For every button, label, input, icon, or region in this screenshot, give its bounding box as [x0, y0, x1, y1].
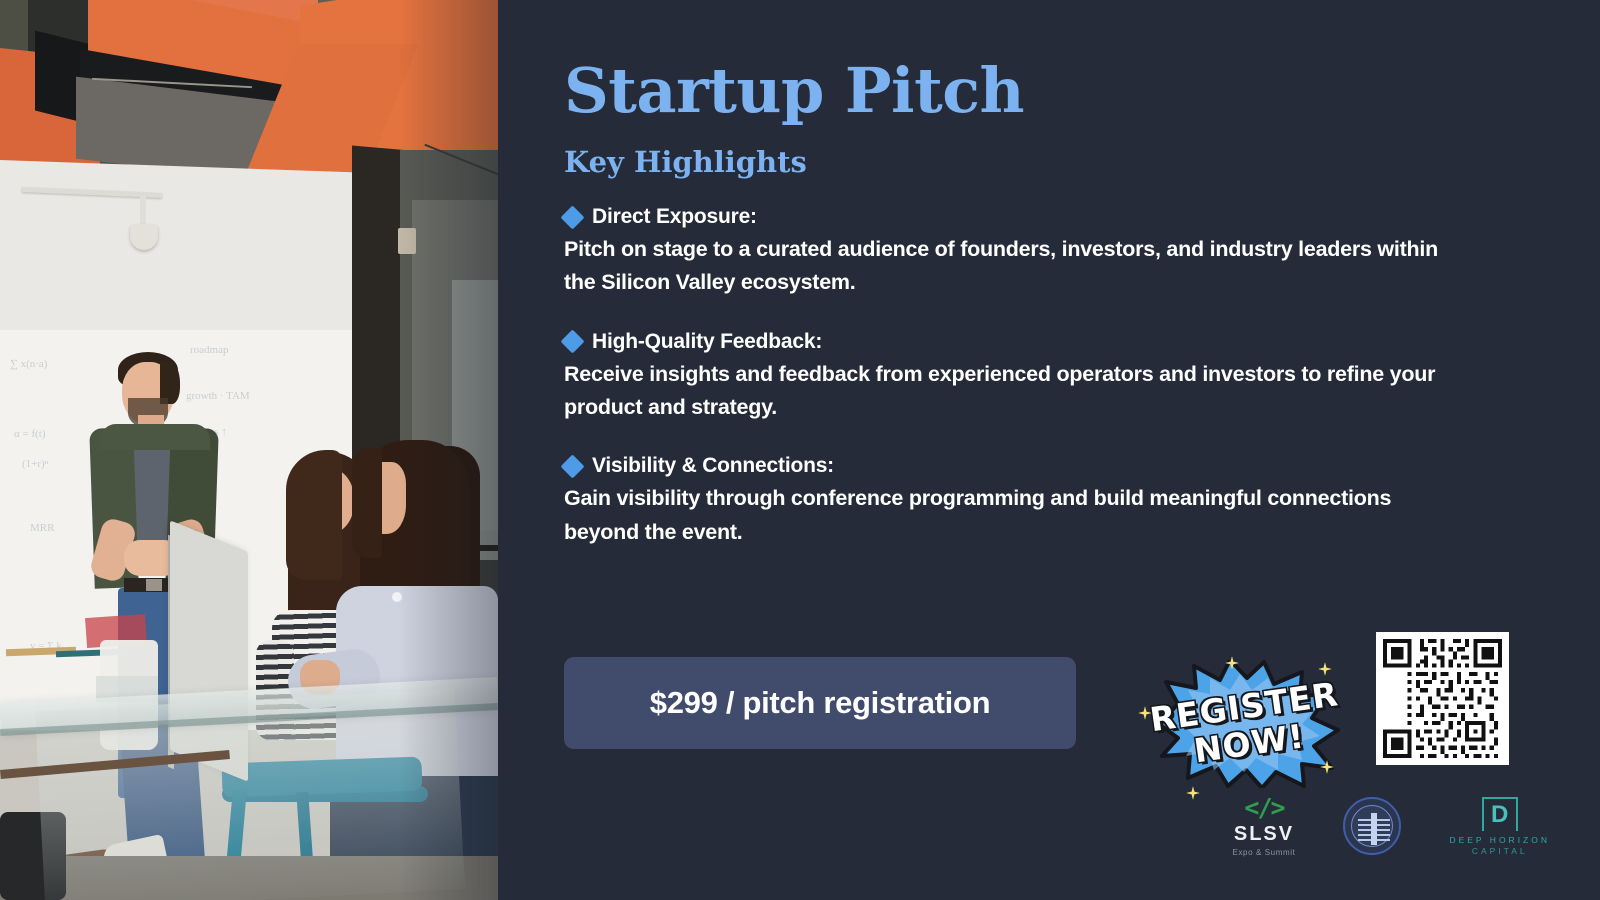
logo-slsv[interactable]: </> SLSV Expo & Summit [1233, 795, 1296, 857]
seal-tower-icon [1371, 813, 1377, 845]
qr-code-icon [1383, 639, 1502, 758]
page-title: Startup Pitch [564, 58, 1540, 123]
highlight-body: Pitch on stage to a curated audience of … [564, 233, 1469, 300]
starburst-icon [1152, 660, 1342, 788]
content-panel: Startup Pitch Key Highlights Direct Expo… [498, 0, 1600, 900]
diamond-bullet-icon [560, 454, 584, 478]
highlight-item: High-Quality Feedback: Receive insights … [564, 330, 1540, 425]
sponsor-logos: </> SLSV Expo & Summit D DEEP HORIZON [564, 795, 1550, 875]
highlight-title: Direct Exposure: [592, 205, 757, 229]
chamber-seal-icon [1343, 797, 1401, 855]
highlight-title: Visibility & Connections: [592, 454, 834, 478]
code-brackets-icon: </> [1244, 795, 1283, 820]
highlight-heading: High-Quality Feedback: [564, 330, 1540, 354]
deep-horizon-mark-icon: D [1482, 797, 1518, 831]
price-label: $299 / pitch registration [650, 685, 991, 721]
logo-deep-horizon-capital[interactable]: D DEEP HORIZON CAPITAL [1449, 797, 1550, 856]
diamond-bullet-icon [560, 205, 584, 229]
logo-chamber-seal[interactable] [1343, 797, 1401, 855]
qr-code[interactable] [1376, 632, 1509, 765]
deep-horizon-letter: D [1491, 803, 1508, 827]
highlight-heading: Visibility & Connections: [564, 454, 1540, 478]
highlight-heading: Direct Exposure: [564, 205, 1540, 229]
sparkle-icon [1138, 706, 1152, 720]
photo-edge-gradient [0, 0, 498, 900]
logo-row: </> SLSV Expo & Summit D DEEP HORIZON [1233, 795, 1550, 857]
diamond-bullet-icon [560, 330, 584, 354]
highlight-body: Gain visibility through conference progr… [564, 482, 1469, 549]
section-subtitle: Key Highlights [564, 145, 1540, 179]
slide-root: ∑ x(n·a) α = f(t) (1+r)ⁿ roadmap growth … [0, 0, 1600, 900]
price-registration-button[interactable]: $299 / pitch registration [564, 657, 1076, 749]
highlight-item: Direct Exposure: Pitch on stage to a cur… [564, 205, 1540, 300]
highlight-item: Visibility & Connections: Gain visibilit… [564, 454, 1540, 549]
deep-horizon-line-1: DEEP HORIZON [1449, 835, 1550, 845]
cta-row: $299 / pitch registration REGISTER NOW! [564, 652, 1550, 802]
hero-photo: ∑ x(n·a) α = f(t) (1+r)ⁿ roadmap growth … [0, 0, 498, 900]
highlight-title: High-Quality Feedback: [592, 330, 822, 354]
register-now-badge[interactable]: REGISTER NOW! [1132, 642, 1362, 812]
deep-horizon-line-2: CAPITAL [1472, 846, 1528, 856]
highlights-list: Direct Exposure: Pitch on stage to a cur… [564, 205, 1540, 549]
logo-slsv-tagline: Expo & Summit [1233, 848, 1296, 857]
logo-slsv-name: SLSV [1234, 823, 1294, 846]
highlight-body: Receive insights and feedback from exper… [564, 358, 1469, 425]
